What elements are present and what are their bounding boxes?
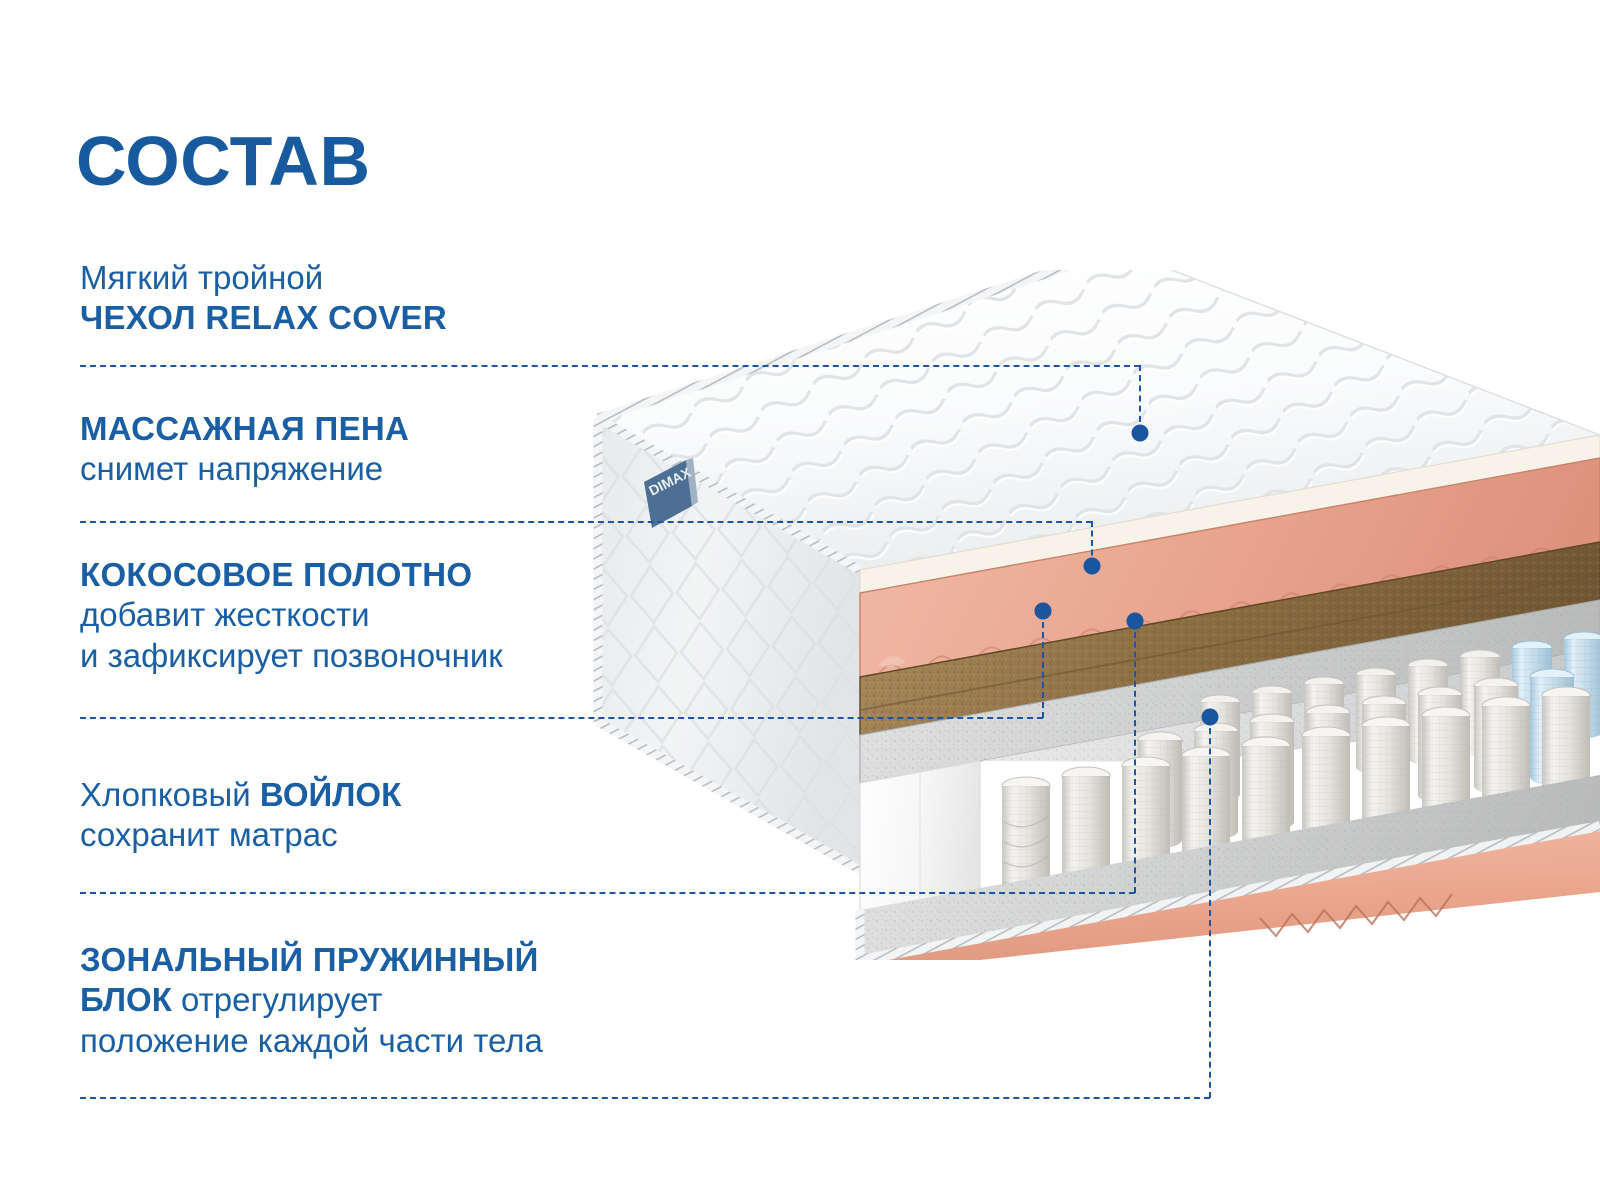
callout-cotton-felt: Хлопковый ВОЙЛОК сохранит матрас xyxy=(80,775,401,856)
callout-cotton-felt-line1: Хлопковый ВОЙЛОК xyxy=(80,775,401,815)
callout-zonal-spring-block-line2-bold: БЛОК xyxy=(80,981,172,1018)
callout-zonal-spring-block-line2-normal: отрегулирует xyxy=(172,981,383,1018)
callout-zonal-spring-block-line3: положение каждой части тела xyxy=(80,1021,543,1061)
callout-cover: Мягкий тройной ЧЕХОЛ RELAX COVER xyxy=(80,258,447,339)
mattress-cutaway-illustration: DIMAX xyxy=(560,270,1600,960)
callout-zonal-spring-block-line2: БЛОК отрегулирует xyxy=(80,980,543,1020)
callout-cotton-felt-line1-bold: ВОЙЛОК xyxy=(260,776,401,813)
callout-coconut-coir-line2: добавит жесткости xyxy=(80,595,503,635)
callout-cotton-felt-line1-normal: Хлопковый xyxy=(80,776,260,813)
callout-coconut-coir-line1: КОКОСОВОЕ ПОЛОТНО xyxy=(80,555,503,595)
callout-coconut-coir-line3: и зафиксирует позвоночник xyxy=(80,636,503,676)
callout-zonal-spring-block: ЗОНАЛЬНЫЙ ПРУЖИННЫЙ БЛОК отрегулирует по… xyxy=(80,940,543,1061)
page-title: СОСТАВ xyxy=(76,126,371,196)
callout-massage-foam-line2: снимет напряжение xyxy=(80,449,409,489)
callout-massage-foam-line1: МАССАЖНАЯ ПЕНА xyxy=(80,409,409,449)
infographic-canvas: СОСТАВ Мягкий тройной ЧЕХОЛ RELAX COVER … xyxy=(0,0,1600,1200)
callout-massage-foam: МАССАЖНАЯ ПЕНА снимет напряжение xyxy=(80,409,409,490)
callout-zonal-spring-block-line1: ЗОНАЛЬНЫЙ ПРУЖИННЫЙ xyxy=(80,940,543,980)
callout-coconut-coir: КОКОСОВОЕ ПОЛОТНО добавит жесткости и за… xyxy=(80,555,503,676)
callout-cover-line1: Мягкий тройной xyxy=(80,258,447,298)
callout-cotton-felt-line2: сохранит матрас xyxy=(80,815,401,855)
callout-cover-line2: ЧЕХОЛ RELAX COVER xyxy=(80,298,447,338)
leader-zonal-spring-block-horizontal xyxy=(80,1097,1210,1099)
